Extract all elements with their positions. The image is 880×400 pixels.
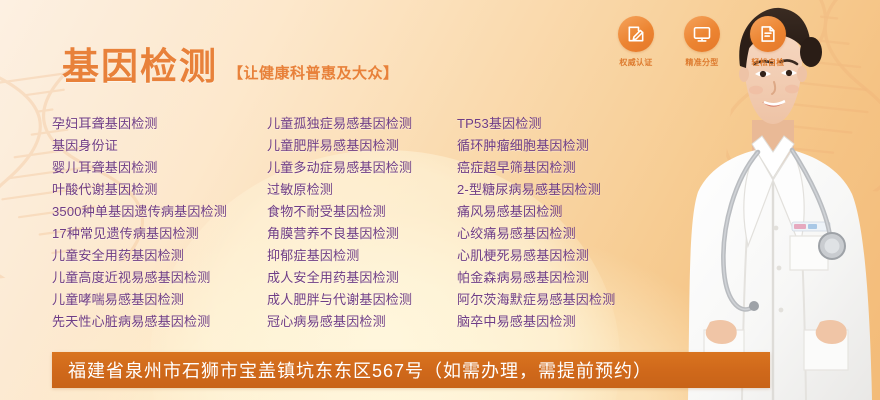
list-item[interactable]: 角膜营养不良基因检测	[267, 223, 457, 245]
list-item[interactable]: 儿童高度近视易感基因检测	[52, 267, 267, 289]
list-item[interactable]: 3500种单基因遗传病基因检测	[52, 201, 267, 223]
list-item[interactable]: TP53基因检测	[457, 113, 687, 135]
list-item[interactable]: 孕妇耳聋基因检测	[52, 113, 267, 135]
address-bar: 福建省泉州市石狮市宝盖镇坑东东区567号（如需办理，需提前预约）	[52, 352, 770, 388]
list-item[interactable]: 心绞痛易感基因检测	[457, 223, 687, 245]
list-item[interactable]: 心肌梗死易感基因检测	[457, 245, 687, 267]
gene-testing-banner: 权威认证 精准分型 轻松自检 基因检测 【让健	[0, 0, 880, 400]
gene-test-column-1: 孕妇耳聋基因检测 基因身份证 婴儿耳聋基因检测 叶酸代谢基因检测 3500种单基…	[52, 113, 267, 333]
edit-certificate-icon	[618, 16, 654, 52]
monitor-icon	[684, 16, 720, 52]
list-item[interactable]: 痛风易感基因检测	[457, 201, 687, 223]
feature-badge[interactable]: 轻松自检	[744, 16, 792, 68]
feature-badge-label: 权威认证	[619, 57, 652, 68]
page-title: 基因检测	[62, 48, 218, 85]
list-item[interactable]: 冠心病易感基因检测	[267, 311, 457, 333]
list-item[interactable]: 17种常见遗传病基因检测	[52, 223, 267, 245]
address-text: 福建省泉州市石狮市宝盖镇坑东东区567号（如需办理，需提前预约）	[52, 357, 652, 383]
list-item[interactable]: 抑郁症基因检测	[267, 245, 457, 267]
list-item[interactable]: 过敏原检测	[267, 179, 457, 201]
feature-badge-label: 轻松自检	[751, 57, 784, 68]
list-item[interactable]: 脑卒中易感基因检测	[457, 311, 687, 333]
list-item[interactable]: 食物不耐受基因检测	[267, 201, 457, 223]
list-item[interactable]: 基因身份证	[52, 135, 267, 157]
list-item[interactable]: 婴儿耳聋基因检测	[52, 157, 267, 179]
list-item[interactable]: 循环肿瘤细胞基因检测	[457, 135, 687, 157]
list-item[interactable]: 叶酸代谢基因检测	[52, 179, 267, 201]
feature-badge[interactable]: 权威认证	[612, 16, 660, 68]
list-item[interactable]: 儿童肥胖易感基因检测	[267, 135, 457, 157]
list-item[interactable]: 儿童孤独症易感基因检测	[267, 113, 457, 135]
gene-test-column-2: 儿童孤独症易感基因检测 儿童肥胖易感基因检测 儿童多动症易感基因检测 过敏原检测…	[267, 113, 457, 333]
gene-test-column-3: TP53基因检测 循环肿瘤细胞基因检测 癌症超早筛基因检测 2-型糖尿病易感基因…	[457, 113, 687, 333]
banner-headline: 基因检测 【让健康科普惠及大众】	[62, 48, 399, 85]
list-item[interactable]: 成人肥胖与代谢基因检测	[267, 289, 457, 311]
feature-badge-group: 权威认证 精准分型 轻松自检	[612, 16, 792, 68]
gene-test-list: 孕妇耳聋基因检测 基因身份证 婴儿耳聋基因检测 叶酸代谢基因检测 3500种单基…	[52, 113, 687, 333]
list-item[interactable]: 2-型糖尿病易感基因检测	[457, 179, 687, 201]
feature-badge-label: 精准分型	[685, 57, 718, 68]
list-item[interactable]: 阿尔茨海默症易感基因检测	[457, 289, 687, 311]
report-document-icon	[750, 16, 786, 52]
list-item[interactable]: 儿童安全用药基因检测	[52, 245, 267, 267]
page-subtitle: 【让健康科普惠及大众】	[228, 66, 399, 85]
list-item[interactable]: 成人安全用药基因检测	[267, 267, 457, 289]
list-item[interactable]: 儿童多动症易感基因检测	[267, 157, 457, 179]
list-item[interactable]: 儿童哮喘易感基因检测	[52, 289, 267, 311]
list-item[interactable]: 先天性心脏病易感基因检测	[52, 311, 267, 333]
feature-badge[interactable]: 精准分型	[678, 16, 726, 68]
list-item[interactable]: 帕金森病易感基因检测	[457, 267, 687, 289]
list-item[interactable]: 癌症超早筛基因检测	[457, 157, 687, 179]
